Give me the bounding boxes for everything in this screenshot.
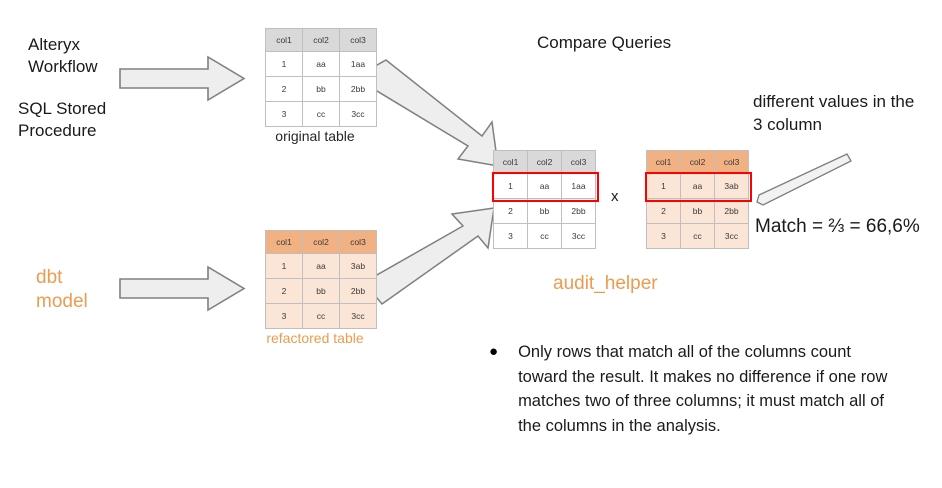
table-cell: aa <box>528 174 562 199</box>
source-label-dbt-model: dbt model <box>36 266 88 314</box>
bullet-icon: ● <box>489 340 498 438</box>
table-row: 3 cc 3cc <box>494 224 596 249</box>
refactored-table: col1 col2 col3 1 aa 3ab 2 bb 2bb 3 cc 3c… <box>265 230 377 329</box>
table-row: 2 bb 2bb <box>494 199 596 224</box>
original-table: col1 col2 col3 1 aa 1aa 2 bb 2bb 3 cc 3c… <box>265 28 377 127</box>
table-row: 3 cc 3cc <box>266 304 377 329</box>
note-block: ● Only rows that match all of the column… <box>489 340 889 438</box>
table-cell: 3 <box>266 304 303 329</box>
table-cell: 2bb <box>715 199 749 224</box>
table-cell: 1 <box>266 52 303 77</box>
table-cell: 3cc <box>562 224 596 249</box>
column-header: col3 <box>715 151 749 174</box>
table-cell: 1aa <box>340 52 377 77</box>
table-cell: 3 <box>266 102 303 127</box>
column-header: col3 <box>340 29 377 52</box>
column-header: col2 <box>303 29 340 52</box>
column-header: col1 <box>494 151 528 174</box>
table-cell: 1 <box>266 254 303 279</box>
table-cell: 3cc <box>340 304 377 329</box>
table-cell: aa <box>681 174 715 199</box>
column-header: col2 <box>528 151 562 174</box>
annotation-match-result: Match = ⅔ = 66,6% <box>755 216 920 238</box>
table-cell: cc <box>303 102 340 127</box>
source-label-alteryx: Alteryx Workflow <box>28 34 98 78</box>
table-row: 1 aa 3ab <box>266 254 377 279</box>
column-header: col3 <box>562 151 596 174</box>
column-header: col2 <box>303 231 340 254</box>
cross-symbol: x <box>611 188 619 205</box>
table-cell: 3ab <box>340 254 377 279</box>
table-cell: 3ab <box>715 174 749 199</box>
table-cell: bb <box>681 199 715 224</box>
table-cell: 1 <box>494 174 528 199</box>
source-label-sql-stored-procedure: SQL Stored Procedure <box>18 98 106 142</box>
table-cell: 2 <box>266 77 303 102</box>
table-cell: aa <box>303 254 340 279</box>
table-header-row: col1 col2 col3 <box>266 231 377 254</box>
table-header-row: col1 col2 col3 <box>494 151 596 174</box>
table-cell: bb <box>303 279 340 304</box>
table-cell: bb <box>303 77 340 102</box>
table-cell: bb <box>528 199 562 224</box>
table-cell: 2bb <box>340 77 377 102</box>
table-row: 2 bb 2bb <box>266 77 377 102</box>
table-cell: cc <box>303 304 340 329</box>
pointer-bar-icon <box>755 150 855 212</box>
arrow-right-bottom <box>118 265 246 312</box>
table-row: 3 cc 3cc <box>647 224 749 249</box>
column-header: col2 <box>681 151 715 174</box>
table-row: 1 aa 1aa <box>266 52 377 77</box>
compare-left-table: col1 col2 col3 1 aa 1aa 2 bb 2bb 3 cc 3c… <box>493 150 596 249</box>
table-row: 1 aa 1aa <box>494 174 596 199</box>
table-cell: 2bb <box>562 199 596 224</box>
table-cell: 2 <box>494 199 528 224</box>
table-cell: 1aa <box>562 174 596 199</box>
table-row: 2 bb 2bb <box>647 199 749 224</box>
column-header: col1 <box>266 231 303 254</box>
label-audit-helper: audit_helper <box>553 273 658 295</box>
table-header-row: col1 col2 col3 <box>647 151 749 174</box>
page-title: Compare Queries <box>537 33 671 53</box>
table-cell: 3cc <box>715 224 749 249</box>
arrow-diagonal-up-right <box>368 196 513 308</box>
note-text: Only rows that match all of the columns … <box>518 340 889 438</box>
table-row: 1 aa 3ab <box>647 174 749 199</box>
table-cell: 2 <box>266 279 303 304</box>
column-header: col1 <box>266 29 303 52</box>
table-cell: cc <box>528 224 562 249</box>
table-cell: 2bb <box>340 279 377 304</box>
table-cell: 3 <box>647 224 681 249</box>
table-row: 2 bb 2bb <box>266 279 377 304</box>
annotation-different-values: different values in the 3 column <box>753 90 942 136</box>
table-row: 3 cc 3cc <box>266 102 377 127</box>
caption-original-table: original table <box>245 128 385 144</box>
arrow-right-top <box>118 55 246 102</box>
column-header: col3 <box>340 231 377 254</box>
table-cell: 3cc <box>340 102 377 127</box>
table-cell: 2 <box>647 199 681 224</box>
table-cell: 3 <box>494 224 528 249</box>
table-cell: cc <box>681 224 715 249</box>
table-cell: aa <box>303 52 340 77</box>
column-header: col1 <box>647 151 681 174</box>
table-cell: 1 <box>647 174 681 199</box>
caption-refactored-table: refactored table <box>235 330 395 346</box>
table-header-row: col1 col2 col3 <box>266 29 377 52</box>
compare-right-table: col1 col2 col3 1 aa 3ab 2 bb 2bb 3 cc 3c… <box>646 150 749 249</box>
